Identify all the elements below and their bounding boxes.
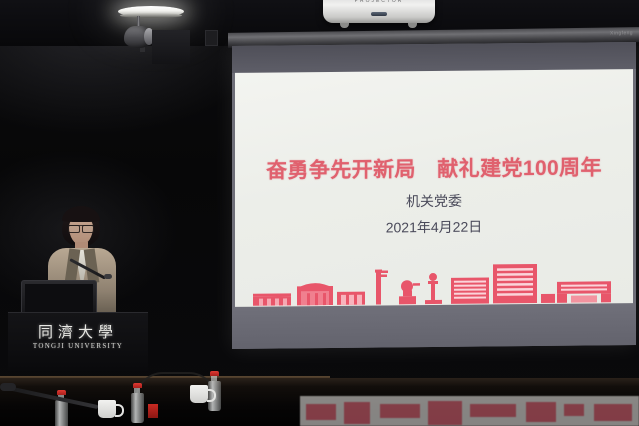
roller-brand-label: Xingfeng (610, 30, 633, 36)
projection-screen: 奋勇争先开新局 献礼建党100周年 机关党委 2021年4月22日 (232, 42, 636, 349)
auditorium-photo: PROJECTOR Xingfeng 奋勇争先开新局 献礼建党100周年 机关党… (0, 0, 639, 426)
screen-bottom-band (232, 303, 636, 349)
ceiling-projector: PROJECTOR (323, 0, 435, 23)
presentation-slide: 奋勇争先开新局 献礼建党100周年 机关党委 2021年4月22日 (235, 69, 633, 307)
lectern-name-en: TONGJI UNIVERSITY (8, 342, 148, 350)
glasses-lens-left-icon (68, 225, 80, 233)
skyline-graphic (235, 257, 633, 307)
glasses-lens-right-icon (82, 225, 94, 233)
tea-cup (98, 400, 116, 418)
wall-plate (205, 30, 218, 46)
lectern-microphone-head-icon (104, 274, 112, 279)
table-reflection (300, 396, 639, 426)
slide-title: 奋勇争先开新局 献礼建党100周年 (235, 151, 633, 185)
water-bottle (55, 400, 68, 426)
ceiling-fixture-box (152, 30, 190, 64)
ceiling-light-rim (120, 13, 182, 18)
lectern: 同濟大學 TONGJI UNIVERSITY (8, 312, 148, 371)
water-bottle (131, 393, 144, 423)
projector-label: PROJECTOR (323, 0, 435, 4)
speaker-fringe (62, 206, 100, 222)
screen-top-band (232, 42, 636, 73)
slide-subtitle: 机关党委 (235, 189, 633, 213)
laptop-screen (25, 284, 93, 313)
projector-lens-icon (371, 12, 387, 16)
tea-cup (190, 385, 208, 403)
lectern-name-cn: 同濟大學 (8, 321, 148, 342)
red-box-item (148, 404, 158, 418)
slide-date: 2021年4月22日 (235, 215, 633, 239)
table-microphone-head-icon (0, 383, 16, 391)
